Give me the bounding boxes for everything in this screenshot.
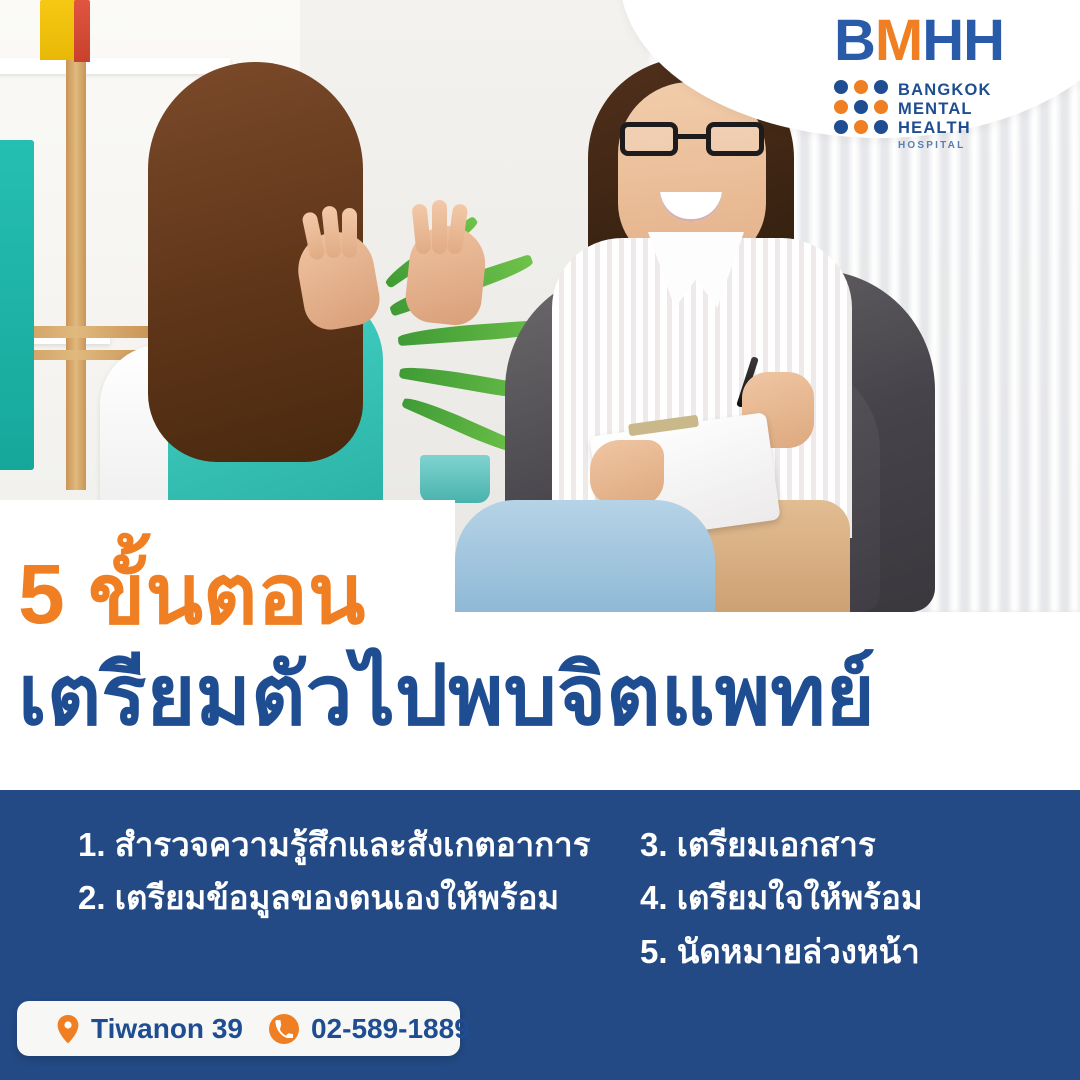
step-item: 3. เตรียมเอกสาร [640,818,1020,871]
logo-dot [834,100,848,114]
headline: 5 ขั้นตอน เตรียมตัวไปพบจิตแพทย์ [0,500,1080,790]
eyeglasses-icon [620,122,764,156]
location-pin-icon [57,1015,79,1043]
patient-finger [432,200,447,254]
doctor-hand-left [590,440,664,506]
logo-dot-grid [834,80,888,134]
logo-dot [874,100,888,114]
step-item: 4. เตรียมใจให้พร้อม [640,871,1020,924]
logo-letter-b: B [834,8,875,73]
brand-logo: BMHH BANGKOK MENTAL HEALTH HOSPITAL [834,12,1044,151]
shelf-post [66,0,86,490]
location-text: Tiwanon 39 [91,1013,243,1045]
phone-text: 02-589-1889 [311,1013,470,1045]
plant-pot [420,455,490,503]
steps-list: 1. สำรวจความรู้สึกและสังเกตอาการ 2. เตรี… [0,818,1080,978]
logo-wordmark: BMHH [834,12,1044,70]
step-item: 2. เตรียมข้อมูลของตนเองให้พร้อม [78,871,620,924]
headline-line1: 5 ขั้นตอน [18,545,1080,644]
logo-letter-m: M [875,8,922,73]
headline-line2: เตรียมตัวไปพบจิตแพทย์ [18,646,1080,745]
phone-icon [269,1014,299,1044]
logo-dot [854,100,868,114]
logo-dot [854,120,868,134]
book [0,140,34,470]
contact-bar[interactable]: Tiwanon 39 02-589-1889 [17,1001,460,1056]
brand-name-line1: BANGKOK [898,81,1044,100]
step-item: 5. นัดหมายล่วงหน้า [640,925,1020,978]
steps-column-left: 1. สำรวจความรู้สึกและสังเกตอาการ 2. เตรี… [0,818,620,925]
logo-dot [834,80,848,94]
shelf-board [0,58,230,74]
logo-dot [874,80,888,94]
logo-dot [874,120,888,134]
patient-finger [342,208,357,258]
brand-name-line2: MENTAL HEALTH [898,100,1044,138]
logo-letter-hh: HH [922,8,1004,73]
book [74,0,90,62]
poster: BMHH BANGKOK MENTAL HEALTH HOSPITAL [0,0,1080,1080]
logo-dot [834,120,848,134]
brand-name-line3: HOSPITAL [898,140,1044,152]
step-item: 1. สำรวจความรู้สึกและสังเกตอาการ [78,818,620,871]
logo-dot [854,80,868,94]
steps-column-right: 3. เตรียมเอกสาร 4. เตรียมใจให้พร้อม 5. น… [620,818,1020,978]
